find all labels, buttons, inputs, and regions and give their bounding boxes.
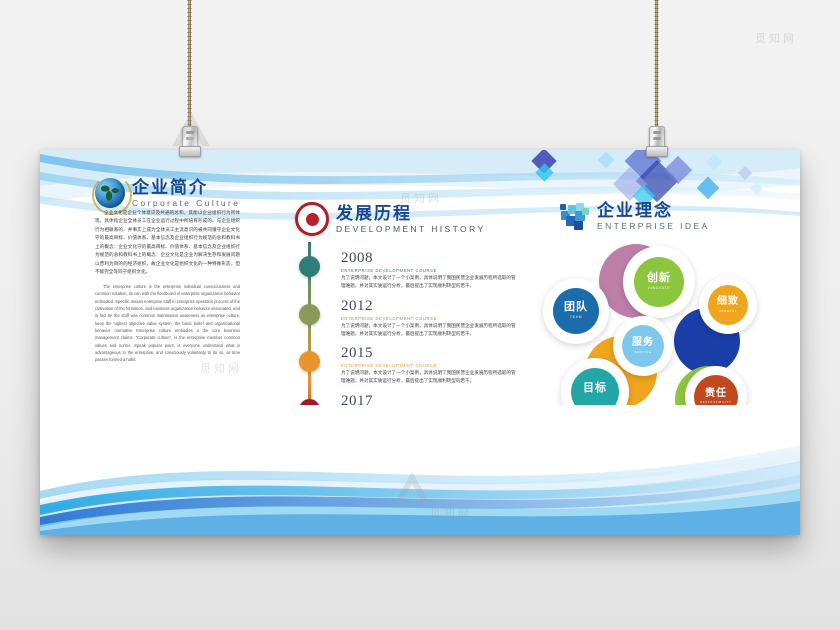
idea-circle-cn: 团队: [564, 302, 588, 313]
culture-header: 企业简介 Corporate Culture: [95, 178, 240, 208]
culture-cn-title: 企业简介: [132, 179, 240, 196]
timeline-subtitle: ENTERPRISE DEVELOPMENT COURSE: [341, 316, 520, 321]
idea-circle-innovate[interactable]: 创新 INNOVATE: [623, 246, 695, 318]
blue-cubes-icon: [560, 202, 590, 230]
culture-cn-paragraph: 企业文化是企业个体意识及共通的总和，其能以企业组织行为所体现。具体指企业全体员工…: [95, 210, 240, 278]
idea-circle-service[interactable]: 服务 SERVICE: [613, 316, 673, 376]
timeline-text: 为了说明问题，本文设计了一个小案例，具体说明了我国民营企业发展历程所选取的管理难…: [341, 275, 520, 292]
timeline-subtitle: ENTERPRISE DEVELOPMENT COURSE: [341, 268, 520, 273]
hanging-cord-right: [655, 0, 658, 136]
idea-circle-en: INNOVATE: [648, 287, 670, 290]
hanger-clip-right: [645, 124, 667, 158]
culture-board: 企业简介 Corporate Culture 企业文化是企业个体意识及共通的总和…: [40, 150, 800, 535]
watermark-text: 觅知网: [755, 30, 797, 46]
idea-circle-en: CAREFUL: [719, 310, 737, 313]
timeline-year: 2015: [341, 345, 520, 362]
globe-wreath-icon: [95, 178, 125, 208]
history-en-title: DEVELOPMENT HISTORY: [336, 225, 486, 234]
timeline-dot: [299, 351, 320, 372]
idea-circle-cn: 服务: [632, 338, 654, 348]
timeline-entry: 2008 ENTERPRISE DEVELOPMENT COURSE 为了说明问…: [295, 250, 520, 292]
idea-cn-title: 企业理念: [597, 202, 710, 219]
culture-en-paragraph: The enterprise culture is the enterprise…: [95, 283, 240, 364]
timeline-year: 2012: [341, 298, 520, 315]
hanger-clip-left: [178, 124, 200, 158]
history-header: 发展历程 DEVELOPMENT HISTORY: [295, 202, 520, 236]
idea-circle-cn: 目标: [583, 383, 607, 394]
culture-body-block: 企业文化是企业个体意识及共通的总和，其能以企业组织行为所体现。具体指企业全体员工…: [95, 210, 240, 364]
idea-circle-en: TEAM: [570, 316, 582, 319]
idea-circle-cn: 细致: [717, 297, 739, 307]
target-icon: [295, 202, 329, 236]
timeline-year: 2008: [341, 250, 520, 267]
timeline-dot: [299, 304, 320, 325]
timeline-subtitle: ENTERPRISE DEVELOPMENT COURSE: [341, 363, 520, 368]
hanging-cord-left: [188, 0, 191, 136]
idea-en-title: ENTERPRISE IDEA: [597, 222, 710, 231]
timeline-dot: [299, 256, 320, 277]
idea-circle-cn: 责任: [705, 389, 727, 399]
timeline-entry: 2012 ENTERPRISE DEVELOPMENT COURSE 为了说明问…: [295, 298, 520, 340]
idea-circle-careful[interactable]: 细致 CAREFUL: [699, 276, 757, 334]
idea-circle-en: SERVICE: [634, 351, 651, 354]
timeline-text: 为了说明问题，本文设计了一个小案例，具体说明了我国民营企业发展历程所选取的管理难…: [341, 370, 520, 387]
culture-en-title: Corporate Culture: [132, 199, 240, 208]
idea-circle-team[interactable]: 团队 TEAM: [543, 278, 609, 344]
idea-header: 企业理念 ENTERPRISE IDEA: [560, 202, 710, 231]
idea-circle-cn: 创新: [647, 273, 671, 284]
history-cn-title: 发展历程: [336, 205, 486, 222]
timeline-entry: 2015 ENTERPRISE DEVELOPMENT COURSE 为了说明问…: [295, 345, 520, 387]
bottom-wave-decoration: [40, 405, 800, 535]
timeline-text: 为了说明问题，本文设计了一个小案例，具体说明了我国民营企业发展历程所选取的管理难…: [341, 323, 520, 340]
